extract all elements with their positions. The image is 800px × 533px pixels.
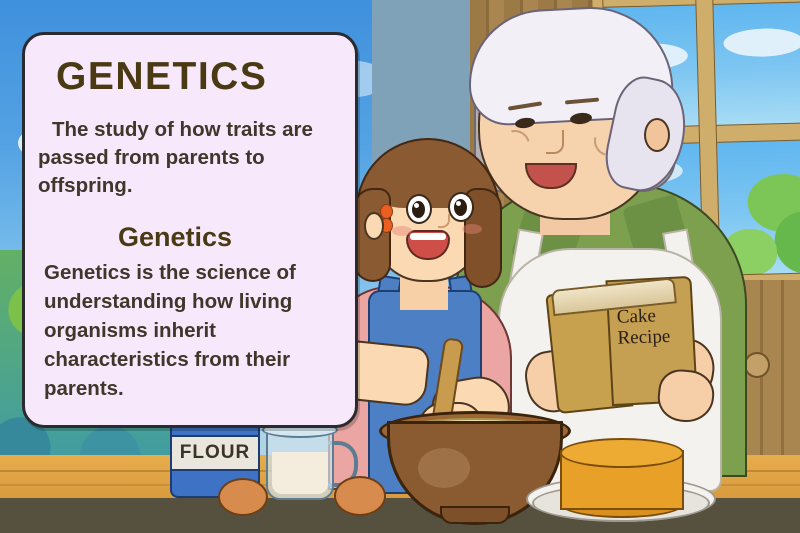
- window-pane: [710, 1, 800, 126]
- cabinet-knob-icon: [746, 354, 768, 376]
- panel-definition-main: The study of how traits are passed from …: [38, 116, 338, 200]
- bowl-highlight: [418, 448, 470, 488]
- milk-contents: [272, 452, 328, 494]
- girl-ear: [366, 214, 382, 238]
- girl-teeth: [410, 233, 446, 240]
- egg[interactable]: [220, 480, 266, 514]
- egg[interactable]: [336, 478, 384, 514]
- hair-clip-icon: [381, 205, 392, 218]
- panel-definition-sub: Genetics is the science of understanding…: [44, 258, 334, 403]
- book-title-line2: Recipe: [617, 325, 696, 349]
- panel-heading-sub: Genetics: [118, 222, 232, 253]
- blush: [462, 224, 482, 234]
- illustration-canvas: Cake Recipe FLOUR: [0, 0, 800, 533]
- ear: [646, 120, 668, 150]
- cake-top: [562, 440, 682, 466]
- eye-glint: [414, 203, 419, 208]
- book-title-line1: Cake: [616, 304, 695, 328]
- nose: [546, 130, 564, 154]
- flour-bag-label: FLOUR: [172, 437, 258, 469]
- bowl-base: [442, 508, 508, 522]
- panel-heading-main: GENETICS: [56, 55, 267, 99]
- flour-label-text: FLOUR: [180, 442, 250, 464]
- blush: [392, 226, 412, 236]
- eye-glint: [456, 201, 461, 206]
- hair-clip-icon: [381, 219, 392, 232]
- book-title: Cake Recipe: [616, 304, 695, 349]
